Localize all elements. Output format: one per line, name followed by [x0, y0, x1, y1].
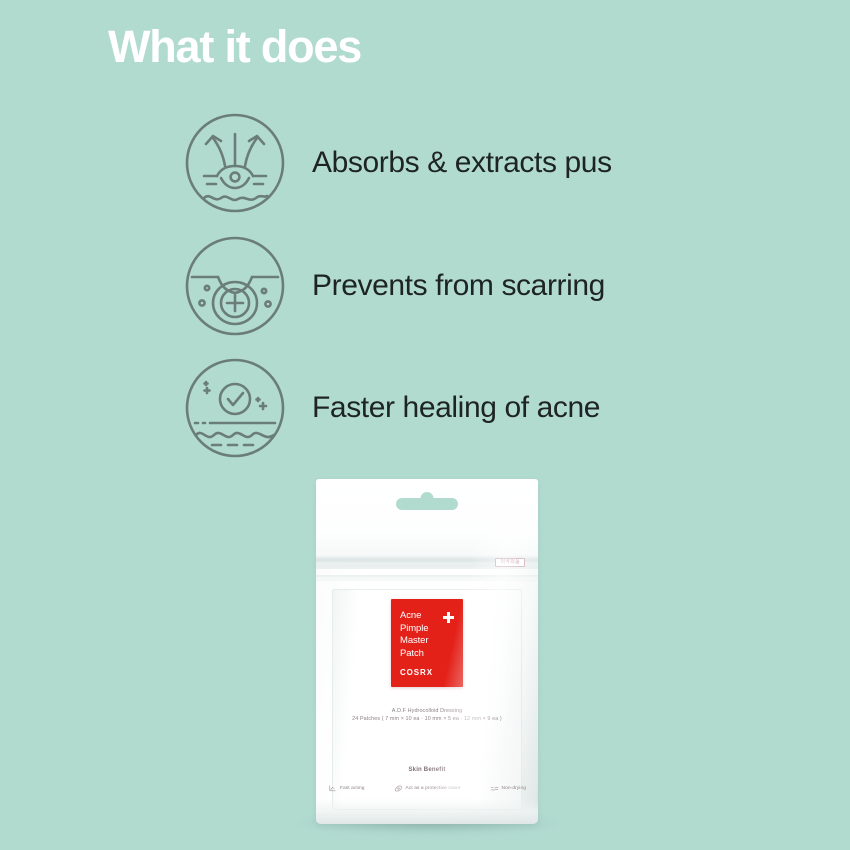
healed-skin-check-icon	[180, 353, 290, 463]
benefit-item-faster-healing: Faster healing of acne	[180, 353, 600, 463]
protective-cover-icon	[394, 784, 403, 793]
brand-name: COSRX	[400, 668, 433, 677]
benefit-item-prevents-scarring: Prevents from scarring	[180, 231, 605, 341]
product-label-name: Acne Pimple Master Patch	[400, 610, 428, 660]
fast-acting-icon	[328, 784, 337, 793]
benefit-item-absorbs: Absorbs & extracts pus	[180, 108, 612, 218]
skin-benefit-text: Fast acting	[340, 786, 365, 791]
product-package: 의약외품 Acne Pimple Master Patch COSRX A.D.…	[316, 479, 538, 824]
ziplock-seal-secondary	[316, 575, 538, 581]
pore-medical-cross-icon	[180, 231, 290, 341]
non-drying-icon	[490, 784, 499, 793]
product-spec-line-1: A.D.F Hydrocolloid Dressing	[316, 707, 538, 715]
hang-hole-icon	[396, 498, 458, 510]
quasi-drug-badge: 의약외품	[495, 558, 525, 567]
benefit-label: Absorbs & extracts pus	[312, 146, 612, 180]
product-infographic: What it does	[0, 0, 850, 850]
product-spec: A.D.F Hydrocolloid Dressing 24 Patches (…	[316, 707, 538, 723]
skin-benefit-title: Skin Benefit	[316, 767, 538, 773]
package-body: 의약외품 Acne Pimple Master Patch COSRX A.D.…	[316, 479, 538, 824]
pore-absorb-arrows-icon	[180, 108, 290, 218]
benefit-label: Prevents from scarring	[312, 269, 605, 303]
page-title: What it does	[108, 22, 361, 72]
benefit-label: Faster healing of acne	[312, 391, 600, 425]
package-bottom-fold	[316, 798, 538, 824]
skin-benefit-item-fast-acting: Fast acting	[328, 784, 365, 793]
skin-benefit-item-non-drying: Non-drying	[490, 784, 526, 793]
skin-benefit-text: Non-drying	[502, 786, 526, 791]
medical-cross-icon	[443, 612, 454, 623]
skin-benefit-text: Act as a protective cover	[406, 786, 461, 791]
product-label: Acne Pimple Master Patch COSRX	[391, 599, 463, 687]
product-spec-line-2: 24 Patches ( 7 mm × 10 ea · 10 mm × 5 ea…	[316, 715, 538, 723]
skin-benefit-row: Fast acting Act as a protective cover	[328, 784, 526, 793]
skin-benefit-item-protective-cover: Act as a protective cover	[394, 784, 461, 793]
